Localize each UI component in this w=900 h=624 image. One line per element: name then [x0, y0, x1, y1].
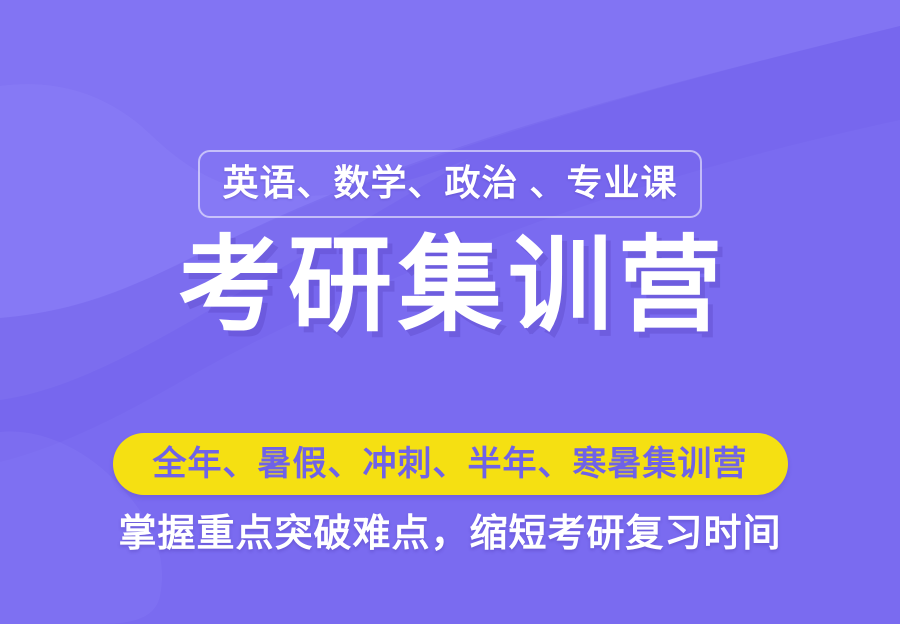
subject-list-text: 英语、数学、政治 、专业课	[222, 165, 677, 201]
banner-content: 英语、数学、政治 、专业课 考研集训营 全年、暑假、冲刺、半年、寒暑集训营 掌握…	[0, 0, 900, 624]
subject-list-box: 英语、数学、政治 、专业课	[198, 150, 701, 218]
page-title: 考研集训营	[172, 232, 728, 341]
tagline-text: 掌握重点突破难点，缩短考研复习时间	[118, 515, 781, 553]
program-types-pill: 全年、暑假、冲刺、半年、寒暑集训营	[113, 433, 788, 495]
promo-banner: 英语、数学、政治 、专业课 考研集训营 全年、暑假、冲刺、半年、寒暑集训营 掌握…	[0, 0, 900, 624]
program-types-text: 全年、暑假、冲刺、半年、寒暑集训营	[153, 447, 748, 481]
